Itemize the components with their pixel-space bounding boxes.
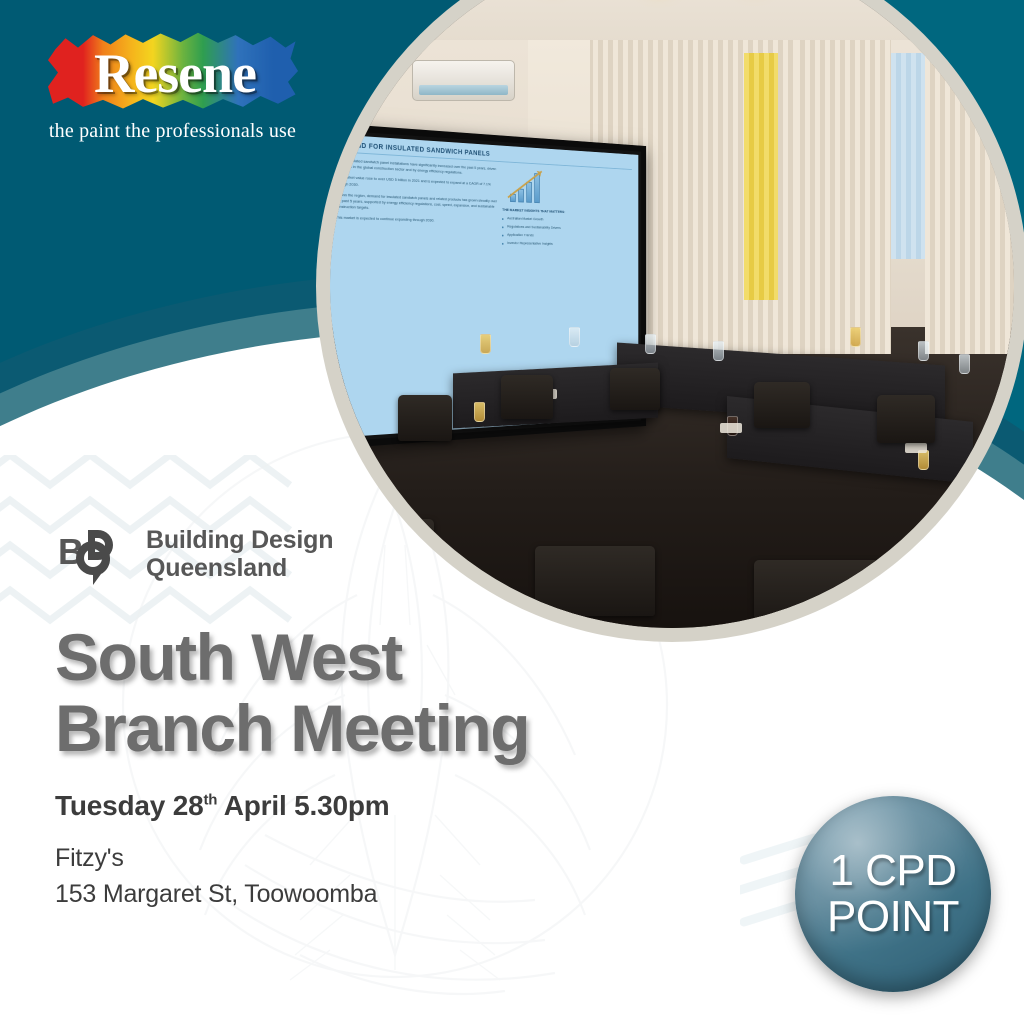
chair: [535, 546, 655, 616]
cpd-badge-text: 1 CPD POINT: [827, 848, 959, 940]
venue-name: Fitzy's: [55, 840, 377, 876]
chair: [501, 375, 553, 419]
slide-bullet: Application Trends: [503, 232, 632, 241]
resene-wordmark: Resene: [60, 42, 290, 106]
bdq-logo: B Building Design Queensland: [58, 524, 358, 594]
venue-address: 153 Margaret St, Toowoomba: [55, 876, 377, 912]
slide-paragraph: The market value rose to over USD 5 bill…: [336, 174, 498, 193]
chair: [877, 395, 935, 443]
chair: [398, 395, 452, 441]
event-poster: DEMAND FOR INSULATED SANDWICH PANELS Glo…: [0, 0, 1024, 1024]
event-venue: Fitzy's 153 Margaret St, Toowoomba: [55, 840, 377, 913]
chair: [610, 368, 660, 410]
bdq-monogram-icon: B: [58, 524, 138, 596]
slide-bullet: Regulations and Sustainability Drivers: [503, 223, 632, 232]
meeting-photo: DEMAND FOR INSULATED SANDWICH PANELS Glo…: [330, 0, 1014, 628]
slide-bullets-heading: THE MARKET INSIGHTS THAT MATTERS:: [503, 207, 632, 216]
slide-bullet-list: Australian Market Growth Regulations and…: [503, 215, 632, 248]
slide-paragraph: This market is expected to continue expa…: [336, 215, 498, 226]
bdq-line-2: Queensland: [146, 554, 333, 582]
cpd-point-badge: 1 CPD POINT: [795, 796, 991, 992]
air-conditioner-icon: [412, 60, 515, 101]
slide-paragraph: Across the region, demand for insulated …: [336, 191, 498, 215]
chair: [754, 382, 810, 428]
chair: [754, 560, 884, 628]
event-date-ordinal: th: [203, 792, 217, 809]
event-title-line-1: South West: [55, 622, 529, 693]
slide-growth-chart: [507, 169, 631, 207]
event-date-suffix: April 5.30pm: [217, 790, 389, 821]
slide-bullet: Investor Representative Insights: [503, 240, 632, 248]
event-datetime: Tuesday 28th April 5.30pm: [55, 790, 389, 822]
bdq-line-1: Building Design: [146, 526, 333, 554]
cpd-badge-line-2: POINT: [827, 894, 959, 940]
cpd-badge-line-1: 1 CPD: [827, 848, 959, 894]
bdq-wordmark: Building Design Queensland: [146, 526, 333, 582]
event-date-prefix: Tuesday 28: [55, 790, 203, 821]
resene-tagline: the paint the professionals use: [30, 120, 315, 143]
event-title: South West Branch Meeting: [55, 622, 529, 765]
event-title-line-2: Branch Meeting: [55, 693, 529, 764]
resene-logo: Resene the paint the professionals use: [30, 28, 315, 153]
